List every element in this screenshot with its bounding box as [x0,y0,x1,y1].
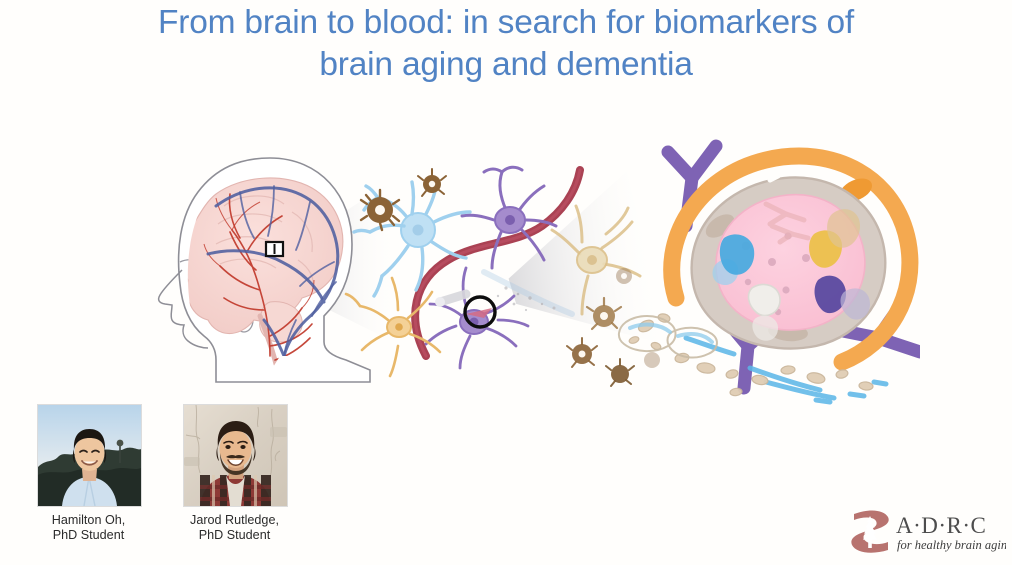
person-card-jarod-rutledge: Jarod Rutledge, PhD Student [183,404,298,543]
panel-head [159,158,370,382]
adrc-acronym: A·D·R·C [896,513,986,538]
stanford-s-with-tree-icon [851,510,888,552]
person-card-hamilton-oh: Hamilton Oh, PhD Student [37,404,142,543]
adrc-tagline: for healthy brain aging [897,538,1006,552]
illustration-svg [120,120,920,410]
panel-vessel-crosssection [619,146,920,402]
jarod-rutledge-photo [183,404,288,507]
brain-to-blood-illustration [120,120,920,410]
hamilton-oh-photo [37,404,142,507]
hamilton-oh-caption: Hamilton Oh, PhD Student [37,513,140,543]
jarod-rutledge-caption: Jarod Rutledge, PhD Student [171,513,298,543]
stanford-adrc-logo: A·D·R·C for healthy brain aging [846,507,1006,557]
page-title: From brain to blood: in search for bioma… [0,2,1012,86]
slide-canvas: From brain to blood: in search for bioma… [0,0,1012,565]
square-callout-box [266,242,283,256]
